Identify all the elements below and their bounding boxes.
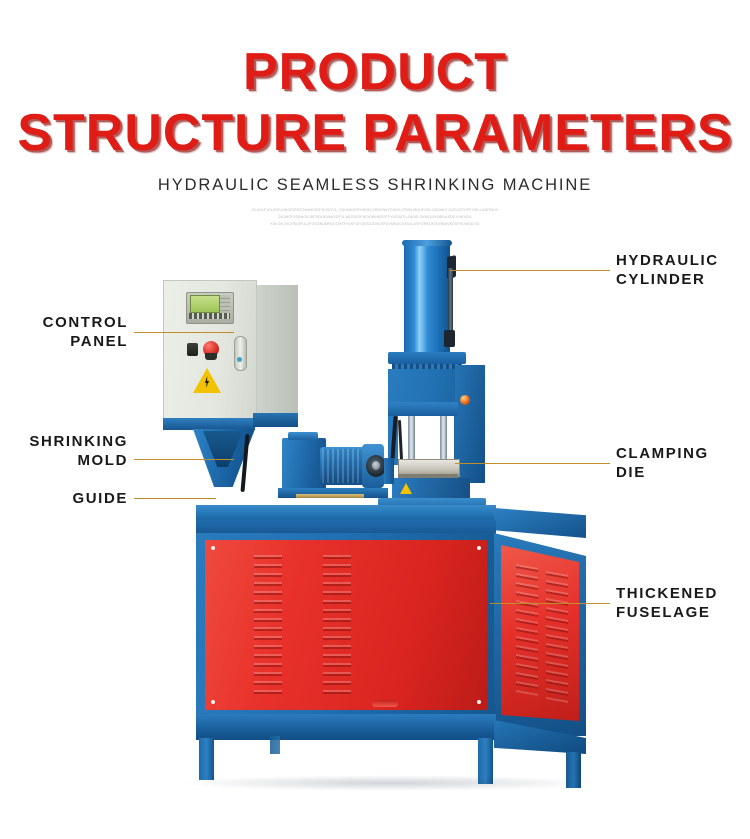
leader-line-hydraulic-cylinder [450,270,610,271]
pressure-gauge-indicator [460,395,470,405]
motor-shaft-center [372,461,380,470]
emergency-stop-base [205,353,217,360]
callout-hydraulic-cylinder-line1: HYDRAULIC [616,251,719,270]
motor-fins [322,449,366,483]
product-structure-infographic: PRODUCT STRUCTURE PARAMETERS HYDRAULIC S… [0,0,750,839]
callout-shrinking-mold-line2: MOLD [0,451,128,470]
fuselage-louvers-1 [254,555,282,695]
callout-shrinking-mold: SHRINKING MOLD [0,432,128,470]
cabinet-mount-block-side [253,413,298,427]
fuselage-side-louvers-1 [516,564,538,696]
callout-guide: GUIDE [0,489,128,508]
press-upper-crossbeam [388,402,458,416]
callout-thickened-fuselage-line1: THICKENED [616,584,718,603]
base-frame-front [196,714,496,740]
selector-switch[interactable] [187,343,198,356]
machine-deck-top [196,505,496,521]
panel-rivet-tr [477,546,481,550]
gearbox-top-cap [288,432,318,440]
callout-clamping-die-line2: DIE [616,463,709,482]
motor-side-bracket [384,458,394,484]
control-panel-side-face [253,285,298,418]
leader-line-control-panel [134,332,234,333]
fuselage-louvers-2 [323,555,351,695]
callout-hydraulic-cylinder: HYDRAULIC CYLINDER [616,251,719,289]
guide-pillar-right [440,416,447,462]
cabinet-door-handle[interactable] [234,336,247,371]
fuselage-side-louvers-2 [546,571,568,703]
machine-deck-top-right [494,508,586,538]
callout-thickened-fuselage-line2: FUSELAGE [616,603,718,622]
base-leg-front-left [199,738,214,780]
panel-rivet-br [477,700,481,704]
leader-line-thickened-fuselage [490,603,610,604]
fuselage-panel-handle[interactable] [372,700,398,707]
base-leg-back-left [270,736,280,754]
panel-rivet-tl [211,546,215,550]
callout-thickened-fuselage: THICKENED FUSELAGE [616,584,718,622]
machine-illustration [0,0,750,839]
callout-hydraulic-cylinder-line2: CYLINDER [616,270,719,289]
cabinet-mount-block [163,418,255,430]
callout-control-panel-line2: PANEL [0,332,128,351]
hmi-keypad-right[interactable] [220,295,230,311]
cabinet-lock-dot [237,357,242,362]
callout-guide-line1: GUIDE [0,489,128,508]
callout-clamping-die-line1: CLAMPING [616,444,709,463]
guide-pillar-left [408,416,415,462]
callout-shrinking-mold-line1: SHRINKING [0,432,128,451]
leader-line-guide [134,498,216,499]
leader-line-clamping-die [455,463,610,464]
ground-shadow [180,775,600,791]
press-head-flange [388,352,466,364]
guide-rail [296,494,364,498]
callout-clamping-die: CLAMPING DIE [616,444,709,482]
cylinder-lower-fitting [444,330,455,347]
callout-control-panel: CONTROL PANEL [0,313,128,351]
panel-rivet-bl [211,700,215,704]
callout-control-panel-line1: CONTROL [0,313,128,332]
hmi-keypad-bottom[interactable] [189,313,230,319]
leader-line-shrinking-mold [134,459,234,460]
hmi-screen[interactable] [190,295,220,313]
cylinder-top-cap [402,240,452,246]
